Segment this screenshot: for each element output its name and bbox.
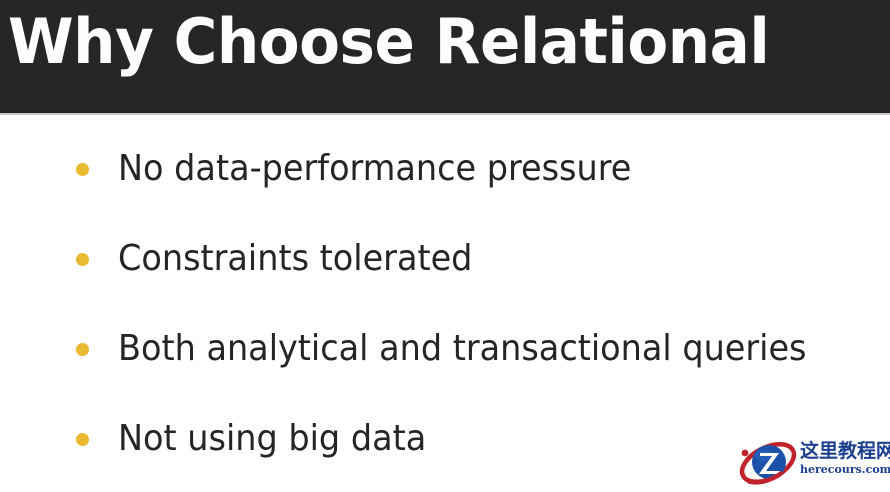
- watermark: 这里教程网 herecours.com: [738, 434, 884, 490]
- list-item-label: Not using big data: [118, 417, 426, 461]
- page-title: Why Choose Relational: [8, 2, 769, 82]
- list-item-label: Constraints tolerated: [118, 237, 472, 281]
- bullet-list: No data-performance pressure Constraints…: [0, 124, 890, 484]
- site-url-label: herecours.com: [800, 462, 884, 478]
- slide: Why Choose Relational No data-performanc…: [0, 0, 890, 492]
- list-item: Constraints tolerated: [0, 214, 890, 304]
- site-logo-icon: [738, 440, 800, 486]
- bullet-dot-icon: [76, 343, 89, 356]
- bullet-dot-icon: [76, 433, 89, 446]
- list-item: No data-performance pressure: [0, 124, 890, 214]
- bullet-dot-icon: [76, 163, 89, 176]
- header-divider: [0, 113, 890, 115]
- list-item-label: Both analytical and transactional querie…: [118, 327, 807, 371]
- slide-header: Why Choose Relational: [0, 0, 890, 113]
- site-name-label: 这里教程网: [800, 440, 884, 462]
- bullet-dot-icon: [76, 253, 89, 266]
- list-item-label: No data-performance pressure: [118, 147, 631, 191]
- watermark-text: 这里教程网 herecours.com: [800, 440, 884, 478]
- list-item: Both analytical and transactional querie…: [0, 304, 890, 394]
